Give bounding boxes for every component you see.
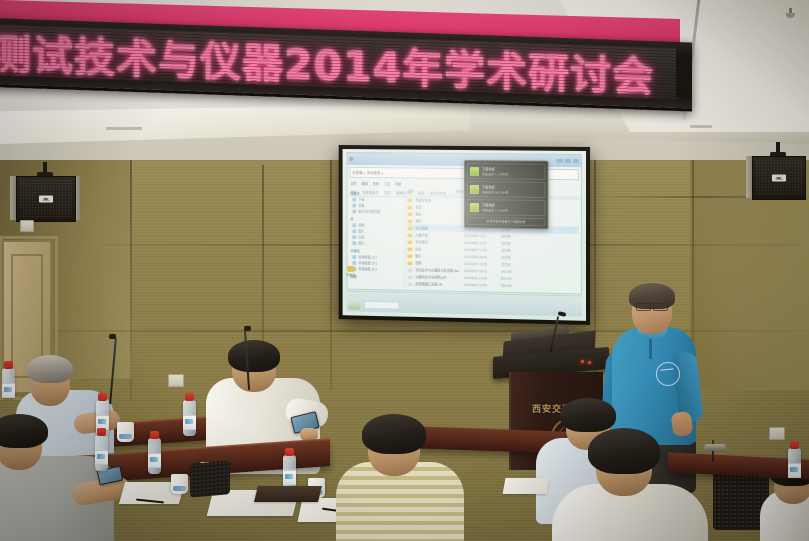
projection-screen: 計算機 ▸ 本地磁盘 ▸ 文件 编辑 查看 工具 帮助 组织 包含到库中 共享 … [339,145,590,325]
folder-icon [407,226,412,230]
water-bottle [183,400,196,436]
nav-item-downloads[interactable]: 下载 [352,197,402,203]
folder-icon [407,219,412,223]
nav-item-desktop[interactable]: 桌面 [352,203,402,209]
wall-seam [0,330,809,332]
water-bottle [95,435,108,471]
folder-icon [352,229,356,233]
folder-icon [407,260,412,264]
wall-outlet-plate [769,427,785,440]
status-indicator-light [581,360,584,363]
column-name[interactable]: 名称 [407,188,453,194]
folder-stack [254,486,322,502]
download-complete-icon [470,185,479,194]
folder-icon [407,205,412,209]
explorer-window[interactable]: 計算機 ▸ 本地磁盘 ▸ 文件 编辑 查看 工具 帮助 组织 包含到库中 共享 … [346,152,581,294]
folder-icon [352,203,356,207]
desktop-icon-recycle-bin[interactable]: 回收站 [346,266,355,277]
document-icon [407,274,412,278]
nav-group-libraries: 库 [350,216,402,222]
handout-paper [503,478,550,494]
minimize-button[interactable] [557,159,563,163]
nav-item-videos[interactable]: 视频 [352,222,402,228]
projection-surface: 計算機 ▸ 本地磁盘 ▸ 文件 编辑 查看 工具 帮助 组织 包含到库中 共享 … [343,149,586,321]
maximize-button[interactable] [565,159,571,163]
close-button[interactable] [573,159,579,163]
folder-icon [407,198,412,202]
start-button[interactable] [348,301,360,309]
microphone-icon [704,444,726,451]
notification-item[interactable]: 下载完成 传输速率 1.2 MB/秒 [467,163,545,180]
folder-icon [407,233,412,237]
nav-item-pictures[interactable]: 图片 [352,228,402,234]
download-complete-icon [470,203,479,212]
ceiling-vent [690,125,712,128]
nav-item-documents[interactable]: 文档 [352,234,402,240]
microphone-icon [244,326,251,331]
folder-icon [407,240,412,244]
address-text: 計算機 ▸ 本地磁盘 ▸ [352,170,383,175]
conference-room-photo: 测试技术与仪器2014年学术研讨会 JBL JBL [0,0,809,541]
nav-group-network: 网络 [350,274,402,280]
nav-item-drive-c[interactable]: 本地磁盘 (C:) [352,254,402,260]
notification-item[interactable]: 下载完成 传输速率 1.5 MB/秒 [467,199,545,216]
glasses-icon [636,303,668,309]
drive-icon [352,255,356,259]
nav-group-favorites: 收藏夹 [350,191,402,197]
folder-icon [352,223,356,227]
nav-item-drive-d[interactable]: 本地磁盘 (D:) [352,260,402,266]
folder-icon [352,197,356,201]
folder-icon [352,241,356,245]
paper-cup [117,422,134,442]
jbl-logo-icon: JBL [772,175,786,182]
wall-seam [330,150,332,390]
water-bottle [788,448,801,478]
ceiling-speaker-left: JBL [16,172,74,216]
polo-shirt-logo-icon [656,362,680,386]
microphone-icon [109,334,116,339]
folder-icon [352,235,356,239]
folder-icon [407,247,412,251]
audience-member-hair [228,340,280,372]
download-notification-popup[interactable]: 下载完成 传输速率 1.2 MB/秒 下载完成 传输速率 980 KB/秒 [464,160,548,229]
chair-back [190,460,230,497]
folder-icon [352,209,356,213]
nav-item-music[interactable]: 音乐 [352,240,402,246]
wall-outlet-plate [20,220,34,232]
audience-member-hair [588,428,660,474]
taskbar[interactable] [346,291,581,317]
audience-member-hair [27,355,73,383]
audience-member-hair [0,414,48,448]
ceiling-vent [106,127,142,130]
ceiling-speaker-right: JBL [752,152,804,194]
document-icon [407,267,412,271]
document-icon [407,281,412,285]
download-complete-icon [470,167,479,176]
notification-item[interactable]: 下载完成 传输速率 980 KB/秒 [467,181,545,198]
nav-item-recent[interactable]: 最近访问的位置 [352,208,402,214]
audience-member-hair [362,414,426,454]
water-bottle [2,368,15,398]
folder-icon [407,254,412,258]
status-indicator-light [588,361,591,364]
taskbar-item[interactable] [364,301,399,310]
wall-outlet-plate [168,374,184,387]
nav-group-computer: 计算机 [350,248,402,254]
folder-icon [407,212,412,216]
water-bottle [148,438,161,474]
notification-footer-link[interactable]: 打开文件夹查看已下载的文件 [467,217,545,226]
audience-member-hair [560,398,616,432]
window-icon [349,157,353,161]
drive-icon [352,260,356,264]
presenter-hand [670,411,693,438]
wall-seam [130,150,132,400]
navigation-pane[interactable]: 收藏夹 下载 桌面 最近访问的位置 库 视频 图片 文档 音乐 计算机 本地磁盘… [347,185,405,290]
nav-item-drive-e[interactable]: 本地磁盘 (E:) [352,266,402,272]
sprinkler-head-icon [786,8,795,20]
paper-cup [171,474,188,494]
jbl-logo-icon: JBL [39,196,53,203]
